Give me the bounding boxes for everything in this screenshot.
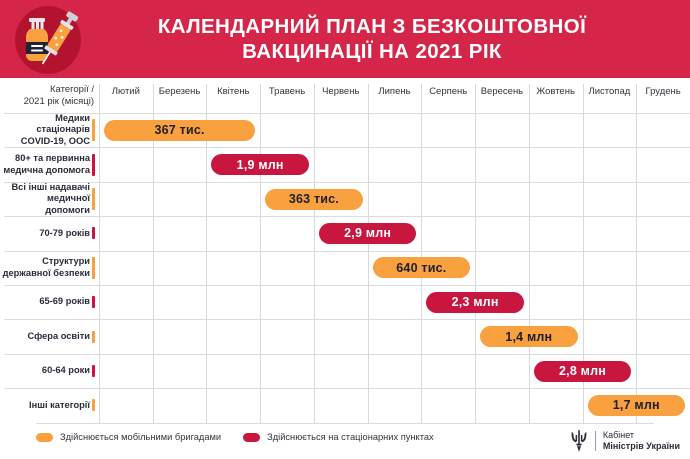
row-divider xyxy=(4,354,690,355)
ukraine-tryzub-icon xyxy=(570,429,588,453)
row-label-1: Медики стаціонарівCOVID-19, ООС xyxy=(2,113,90,147)
row-label-7: Сфера освіти xyxy=(2,319,90,353)
schedule-bar-value: 1,4 млн xyxy=(505,330,552,344)
row-label-line1: Медики стаціонарів xyxy=(2,113,90,136)
column-divider xyxy=(99,84,100,423)
row-marker-3 xyxy=(92,188,95,210)
corner-header-line2: 2021 рік (місяці) xyxy=(4,96,94,108)
month-header-1: Лютий xyxy=(99,86,153,112)
vaccine-vial-syringe-icon xyxy=(12,4,84,76)
row-label-line1: 60-64 роки xyxy=(2,365,90,377)
row-label-5: Структуридержавної безпеки xyxy=(2,251,90,285)
schedule-bar-1: 367 тис. xyxy=(104,120,255,141)
row-label-9: Інші категорії xyxy=(2,388,90,422)
row-marker-5 xyxy=(92,257,95,279)
row-label-line2: державної безпеки xyxy=(2,268,90,280)
row-marker-1 xyxy=(92,119,95,141)
month-header-6: Липень xyxy=(368,86,422,112)
government-logo-text: Кабінет Міністрів України xyxy=(603,430,680,452)
row-label-line1: Сфера освіти xyxy=(2,331,90,343)
month-header-10: Листопад xyxy=(583,86,637,112)
schedule-bar-9: 1,7 млн xyxy=(588,395,685,416)
month-header-2: Березень xyxy=(153,86,207,112)
column-divider xyxy=(314,84,315,423)
legend-chip-mobile-icon xyxy=(36,433,53,442)
row-divider xyxy=(4,285,690,286)
schedule-bar-value: 1,9 млн xyxy=(237,158,284,172)
schedule-bar-8: 2,8 млн xyxy=(534,361,631,382)
page-title-line1: КАЛЕНДАРНИЙ ПЛАН З БЕЗКОШТОВНОЇ xyxy=(158,14,586,39)
row-label-6: 65-69 років xyxy=(2,285,90,319)
month-header-4: Травень xyxy=(260,86,314,112)
schedule-bar-value: 2,9 млн xyxy=(344,226,391,240)
row-marker-2 xyxy=(92,154,95,176)
row-label-line1: Структури xyxy=(2,256,90,268)
legend-item-mobile: Здійснюється мобільними бригадами xyxy=(36,432,221,442)
month-header-5: Червень xyxy=(314,86,368,112)
schedule-bar-value: 1,7 млн xyxy=(613,398,660,412)
row-marker-4 xyxy=(92,227,95,239)
row-label-line2: медична допомога xyxy=(2,165,90,177)
row-divider xyxy=(4,216,690,217)
legend-label-mobile: Здійснюється мобільними бригадами xyxy=(60,432,221,442)
row-label-line2: медичної допомоги xyxy=(2,193,90,216)
row-marker-9 xyxy=(92,399,95,411)
corner-header: Категорії / 2021 рік (місяці) xyxy=(4,84,94,108)
month-header-3: Квітень xyxy=(206,86,260,112)
row-label-3: Всі інші надавачімедичної допомоги xyxy=(2,182,90,216)
schedule-bar-value: 363 тис. xyxy=(289,192,339,206)
row-divider xyxy=(4,251,690,252)
legend: Здійснюється мобільними бригадами Здійсн… xyxy=(36,432,434,442)
schedule-bar-value: 640 тис. xyxy=(396,261,446,275)
schedule-bar-7: 1,4 млн xyxy=(480,326,577,347)
row-label-line1: 70-79 років xyxy=(2,228,90,240)
schedule-bar-6: 2,3 млн xyxy=(426,292,523,313)
row-marker-6 xyxy=(92,296,95,308)
schedule-bar-value: 367 тис. xyxy=(155,123,205,137)
row-divider xyxy=(4,113,690,114)
row-divider xyxy=(4,319,690,320)
row-label-2: 80+ та первиннамедична допомога xyxy=(2,147,90,181)
column-divider xyxy=(636,84,637,423)
schedule-bar-value: 2,8 млн xyxy=(559,364,606,378)
row-label-line1: 80+ та первинна xyxy=(2,153,90,165)
schedule-bar-value: 2,3 млн xyxy=(452,295,499,309)
row-label-line2: COVID-19, ООС xyxy=(2,136,90,148)
row-divider xyxy=(4,182,690,183)
legend-label-stationary: Здійснюється на стаціонарних пунктах xyxy=(267,432,434,442)
row-label-8: 60-64 роки xyxy=(2,354,90,388)
row-marker-7 xyxy=(92,331,95,343)
month-header-7: Серпень xyxy=(421,86,475,112)
legend-chip-stationary-icon xyxy=(243,433,260,442)
row-divider xyxy=(4,388,690,389)
table-grid xyxy=(0,78,690,459)
schedule-bar-4: 2,9 млн xyxy=(319,223,416,244)
row-label-line1: Всі інші надавачі xyxy=(2,182,90,194)
page-title: КАЛЕНДАРНИЙ ПЛАН З БЕЗКОШТОВНОЇ ВАКЦИНАЦ… xyxy=(92,0,652,78)
month-header-11: Грудень xyxy=(636,86,690,112)
column-divider xyxy=(421,84,422,423)
header-banner: КАЛЕНДАРНИЙ ПЛАН З БЕЗКОШТОВНОЇ ВАКЦИНАЦ… xyxy=(0,0,690,78)
government-logo: Кабінет Міністрів України xyxy=(570,429,680,453)
vaccination-schedule-table: Категорії / 2021 рік (місяці) ЛютийБерез… xyxy=(0,78,690,459)
row-marker-8 xyxy=(92,365,95,377)
column-divider xyxy=(529,84,530,423)
footer-divider xyxy=(36,423,654,424)
page-title-line2: ВАКЦИНАЦІЇ НА 2021 РІК xyxy=(242,39,502,64)
schedule-bar-3: 363 тис. xyxy=(265,189,362,210)
row-label-4: 70-79 років xyxy=(2,216,90,250)
logo-divider xyxy=(595,431,596,451)
footer: Здійснюється мобільними бригадами Здійсн… xyxy=(0,423,690,459)
month-header-9: Жовтень xyxy=(529,86,583,112)
schedule-bar-2: 1,9 млн xyxy=(211,154,308,175)
schedule-bar-5: 640 тис. xyxy=(373,257,470,278)
row-label-line1: Інші категорії xyxy=(2,400,90,412)
government-logo-line2: Міністрів України xyxy=(603,441,680,452)
row-divider xyxy=(4,147,690,148)
month-header-8: Вересень xyxy=(475,86,529,112)
government-logo-line1: Кабінет xyxy=(603,430,680,441)
column-divider xyxy=(368,84,369,423)
column-divider xyxy=(260,84,261,423)
legend-item-stationary: Здійснюється на стаціонарних пунктах xyxy=(243,432,434,442)
row-label-line1: 65-69 років xyxy=(2,296,90,308)
column-divider xyxy=(475,84,476,423)
corner-header-line1: Категорії / xyxy=(4,84,94,96)
